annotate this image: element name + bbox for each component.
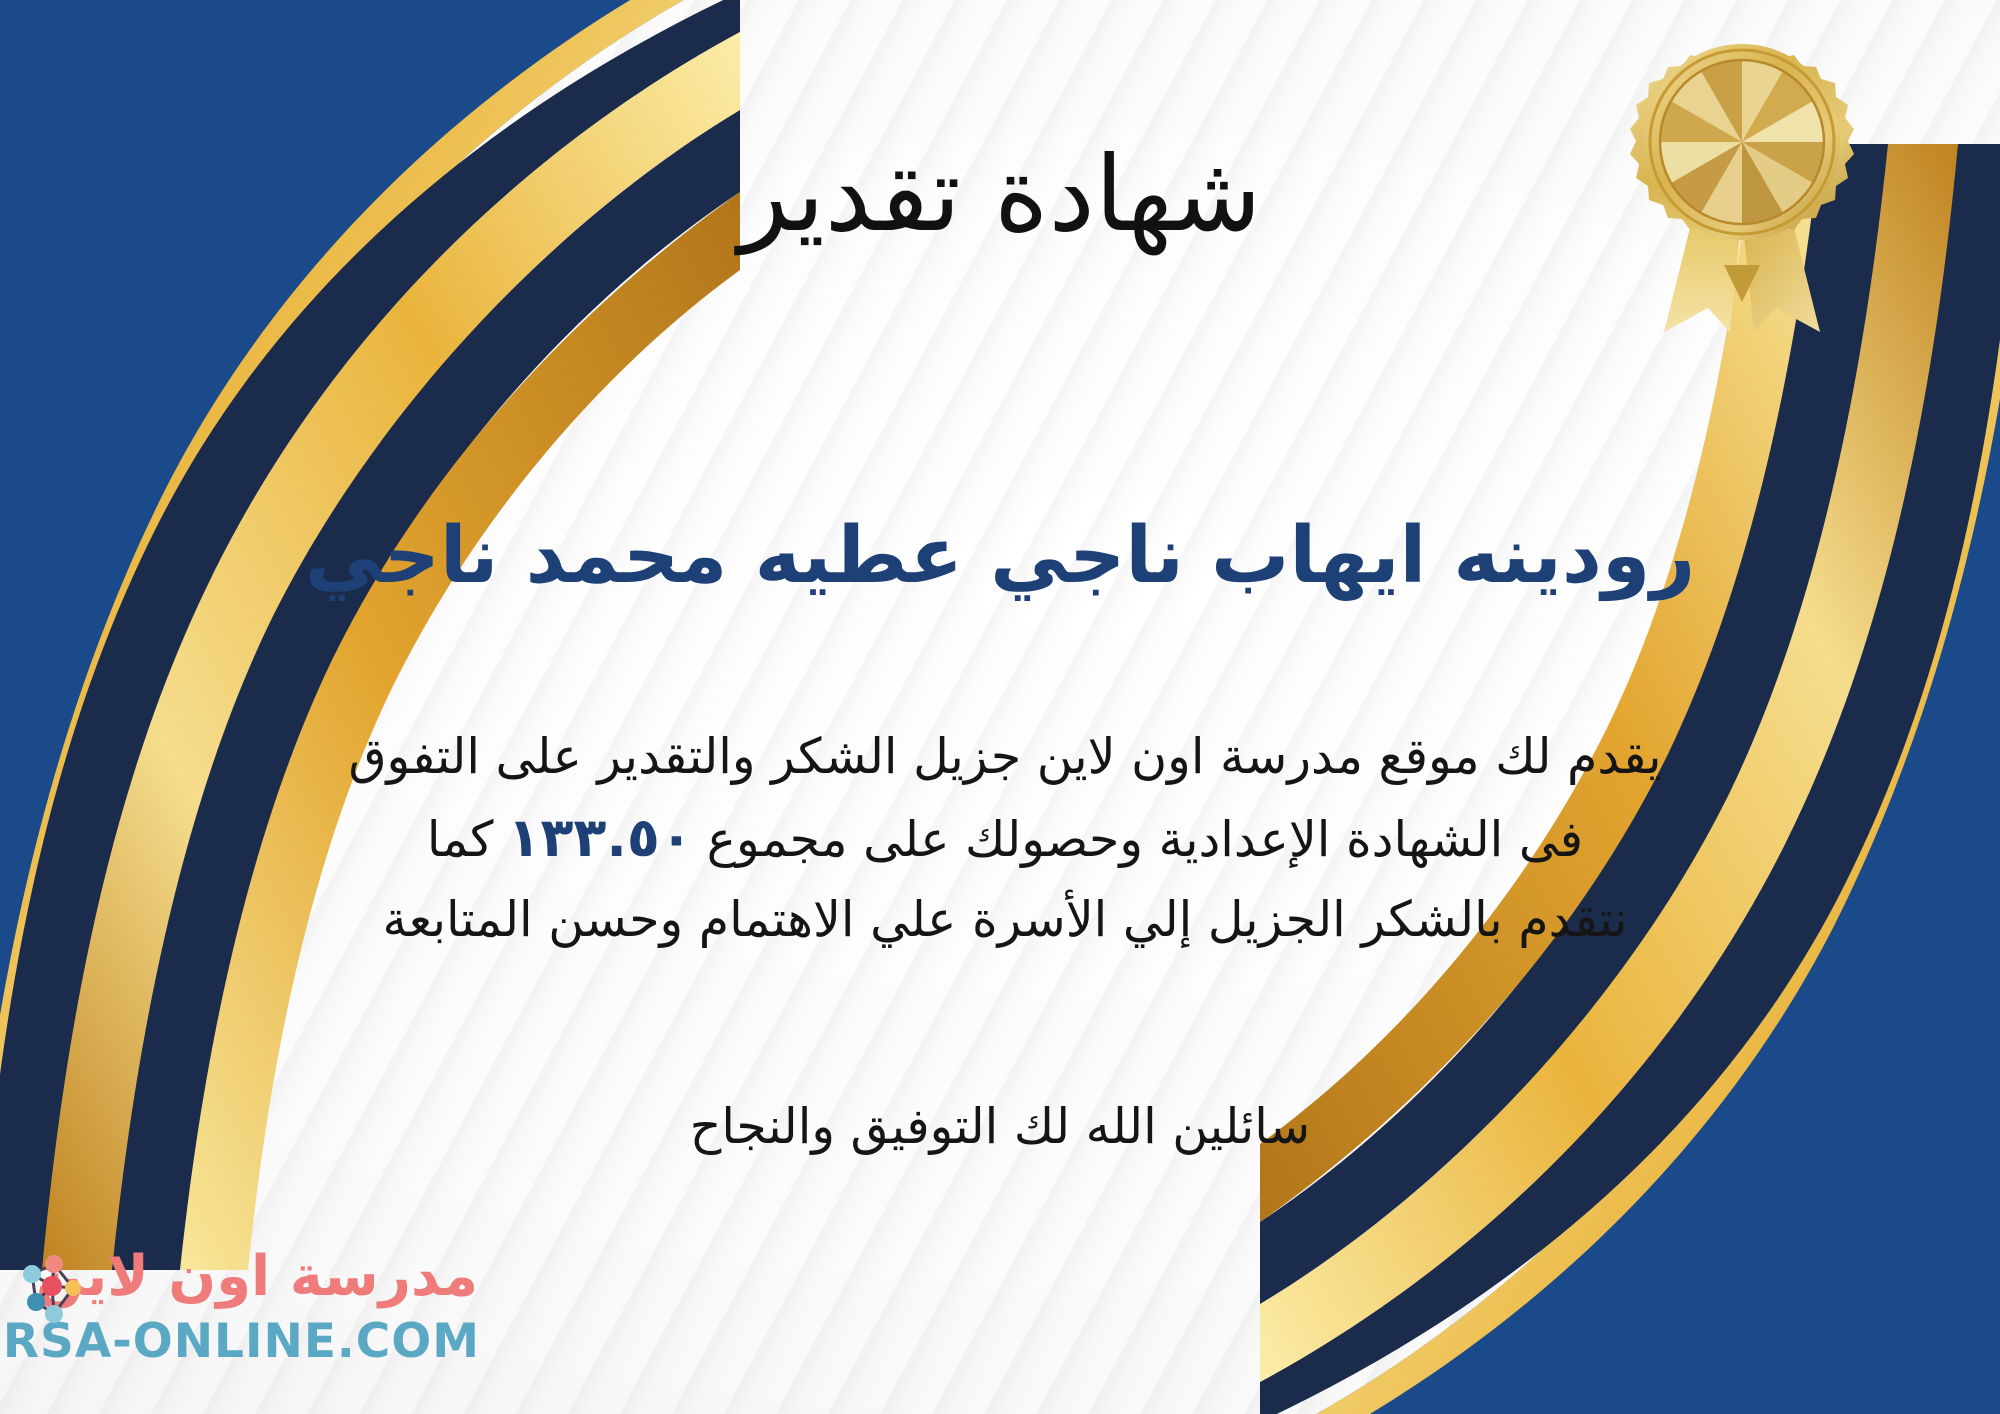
body-line-2-suffix: كما: [427, 811, 494, 868]
body-line-1: يقدم لك موقع مدرسة اون لاين جزيل الشكر و…: [210, 718, 1800, 795]
certificate-canvas: شهادة تقدير رودينه ايهاب ناجي عطيه محمد …: [0, 0, 2000, 1414]
closing-wish: سائلين الله لك التوفيق والنجاح: [300, 1098, 1700, 1155]
body-line-2-prefix: فى الشهادة الإعدادية وحصولك على مجموع: [707, 811, 1583, 868]
certificate-content: شهادة تقدير رودينه ايهاب ناجي عطيه محمد …: [0, 0, 2000, 1414]
certificate-body: يقدم لك موقع مدرسة اون لاين جزيل الشكر و…: [210, 718, 1800, 958]
network-nodes-icon: [18, 1246, 82, 1324]
logo-arabic-text: مدرسة اون لاين: [36, 1244, 478, 1309]
site-logo[interactable]: مدرسة اون لاين MADRSA-ONLINE.COM: [18, 1242, 538, 1392]
body-line-2: فى الشهادة الإعدادية وحصولك على مجموع١٣٣…: [210, 795, 1800, 880]
student-name: رودينه ايهاب ناجي عطيه محمد ناجي: [180, 512, 1820, 602]
page-title: شهادة تقدير: [0, 140, 2000, 249]
body-line-3: نتقدم بالشكر الجزيل إلي الأسرة علي الاهت…: [210, 881, 1800, 958]
grade-value: ١٣٣.٥٠: [493, 806, 706, 869]
